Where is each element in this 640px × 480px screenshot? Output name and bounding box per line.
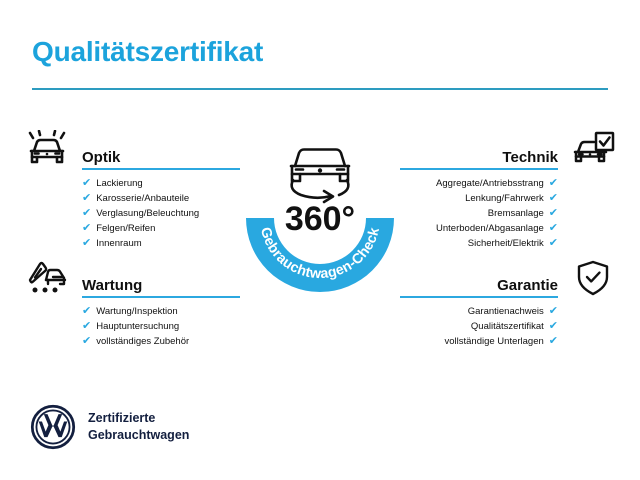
check-icon: ✔ bbox=[82, 336, 91, 347]
list-item-label: Lenkung/Fahrwerk bbox=[465, 194, 544, 204]
checklist-optik: ✔ Lackierung ✔ Karosserie/Anbauteile ✔ V… bbox=[82, 176, 262, 251]
list-item-label: Garantienachweis bbox=[468, 307, 544, 317]
check-icon: ✔ bbox=[549, 336, 558, 347]
check-icon: ✔ bbox=[549, 223, 558, 234]
footer-logo: Zertifizierte Gebrauchtwagen bbox=[30, 404, 189, 450]
check-icon: ✔ bbox=[82, 208, 91, 219]
check-icon: ✔ bbox=[549, 238, 558, 249]
wrench-car-icon bbox=[20, 256, 74, 300]
list-item: ✔ Bremsanlage bbox=[378, 206, 558, 221]
list-item: ✔ Verglasung/Beleuchtung bbox=[82, 206, 262, 221]
list-item: ✔ vollständiges Zubehör bbox=[82, 334, 262, 349]
section-title-optik: Optik bbox=[82, 149, 120, 166]
list-item: ✔ Innenraum bbox=[82, 236, 262, 251]
section-header-garantie: Garantie bbox=[400, 256, 620, 302]
car-shine-icon bbox=[20, 128, 74, 172]
list-item-label: Wartung/Inspektion bbox=[96, 307, 178, 317]
footer-text: Zertifizierte Gebrauchtwagen bbox=[88, 410, 189, 444]
section-header-optik: Optik bbox=[20, 128, 240, 174]
certificate-page: Qualitätszertifikat bbox=[0, 0, 640, 480]
list-item-label: Hauptuntersuchung bbox=[96, 322, 179, 332]
check-icon: ✔ bbox=[549, 306, 558, 317]
section-garantie: Garantie ✔ Garantienachweis ✔ Qualitätsz… bbox=[400, 256, 620, 302]
list-item: ✔ Garantienachweis bbox=[378, 304, 558, 319]
check-icon: ✔ bbox=[549, 178, 558, 189]
section-optik: Optik ✔ Lackierung ✔ Karosserie/Anbautei… bbox=[20, 128, 240, 174]
badge-center-label: 360° bbox=[285, 200, 355, 238]
list-item-label: Aggregate/Antriebsstrang bbox=[436, 179, 544, 189]
list-item-label: vollständige Unterlagen bbox=[444, 337, 543, 347]
list-item: ✔ vollständige Unterlagen bbox=[378, 334, 558, 349]
section-divider-technik bbox=[400, 168, 558, 170]
check-icon: ✔ bbox=[82, 321, 91, 332]
section-title-wartung: Wartung bbox=[82, 277, 142, 294]
list-item: ✔ Sicherheit/Elektrik bbox=[378, 236, 558, 251]
check-icon: ✔ bbox=[82, 306, 91, 317]
section-title-garantie: Garantie bbox=[497, 277, 558, 294]
check-icon: ✔ bbox=[82, 238, 91, 249]
page-title: Qualitätszertifikat bbox=[32, 36, 263, 68]
footer-line-1: Zertifizierte bbox=[88, 410, 189, 427]
list-item-label: vollständiges Zubehör bbox=[96, 337, 189, 347]
list-item-label: Qualitätszertifikat bbox=[471, 322, 544, 332]
check-icon: ✔ bbox=[549, 208, 558, 219]
list-item-label: Felgen/Reifen bbox=[96, 224, 155, 234]
check-icon: ✔ bbox=[82, 193, 91, 204]
list-item: ✔ Karosserie/Anbauteile bbox=[82, 191, 262, 206]
list-item-label: Lackierung bbox=[96, 179, 142, 189]
car-checkbox-icon bbox=[566, 128, 620, 172]
car-rotate-360-icon bbox=[291, 150, 349, 203]
section-wartung: Wartung ✔ Wartung/Inspektion ✔ Hauptunte… bbox=[20, 256, 240, 302]
list-item: ✔ Wartung/Inspektion bbox=[82, 304, 262, 319]
title-divider bbox=[32, 88, 608, 90]
list-item-label: Sicherheit/Elektrik bbox=[468, 239, 544, 249]
list-item-label: Verglasung/Beleuchtung bbox=[96, 209, 199, 219]
list-item: ✔ Aggregate/Antriebsstrang bbox=[378, 176, 558, 191]
check-icon: ✔ bbox=[82, 178, 91, 189]
section-header-wartung: Wartung bbox=[20, 256, 240, 302]
section-divider-garantie bbox=[400, 296, 558, 298]
section-title-technik: Technik bbox=[502, 149, 558, 166]
check-icon: ✔ bbox=[549, 193, 558, 204]
list-item-label: Bremsanlage bbox=[488, 209, 544, 219]
checklist-garantie: ✔ Garantienachweis ✔ Qualitätszertifikat… bbox=[378, 304, 558, 349]
checklist-wartung: ✔ Wartung/Inspektion ✔ Hauptuntersuchung… bbox=[82, 304, 262, 349]
checklist-technik: ✔ Aggregate/Antriebsstrang ✔ Lenkung/Fah… bbox=[378, 176, 558, 251]
list-item-label: Karosserie/Anbauteile bbox=[96, 194, 189, 204]
section-divider-optik bbox=[82, 168, 240, 170]
list-item-label: Unterboden/Abgasanlage bbox=[436, 224, 544, 234]
section-header-technik: Technik bbox=[400, 128, 620, 174]
check-icon: ✔ bbox=[82, 223, 91, 234]
list-item: ✔ Hauptuntersuchung bbox=[82, 319, 262, 334]
badge-360-gebrauchtwagen-check: 360° Gebrauchtwagen-Check bbox=[238, 118, 402, 298]
list-item: ✔ Lenkung/Fahrwerk bbox=[378, 191, 558, 206]
footer-line-2: Gebrauchtwagen bbox=[88, 427, 189, 444]
list-item: ✔ Unterboden/Abgasanlage bbox=[378, 221, 558, 236]
check-icon: ✔ bbox=[549, 321, 558, 332]
list-item-label: Innenraum bbox=[96, 239, 141, 249]
section-technik: Technik ✔ Aggregate/Antriebsstrang ✔ Len… bbox=[400, 128, 620, 174]
volkswagen-logo-icon bbox=[30, 404, 76, 450]
shield-check-icon bbox=[566, 256, 620, 300]
section-divider-wartung bbox=[82, 296, 240, 298]
list-item: ✔ Qualitätszertifikat bbox=[378, 319, 558, 334]
list-item: ✔ Felgen/Reifen bbox=[82, 221, 262, 236]
list-item: ✔ Lackierung bbox=[82, 176, 262, 191]
